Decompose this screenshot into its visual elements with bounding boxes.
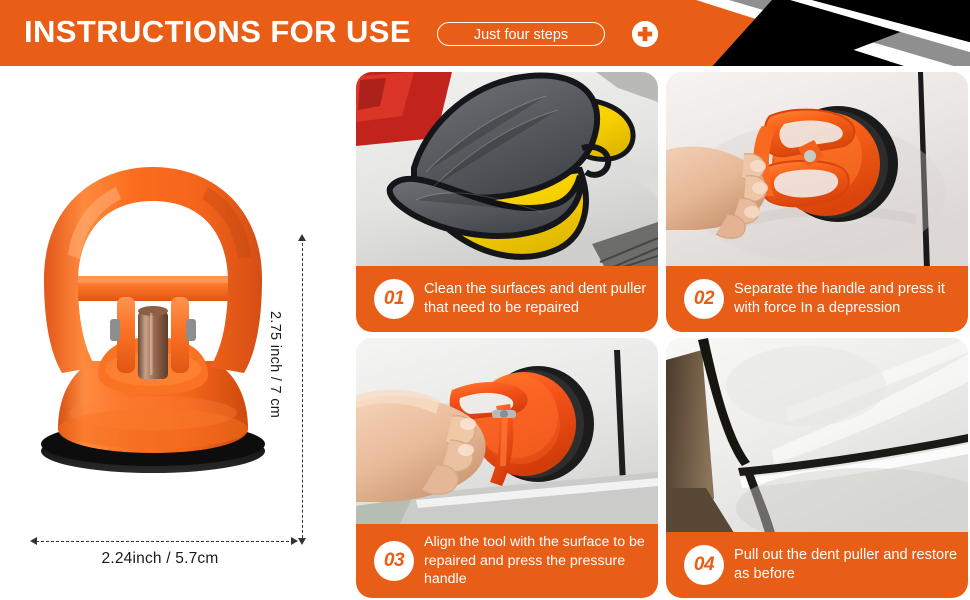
plus-icon bbox=[632, 21, 658, 47]
page-title: INSTRUCTIONS FOR USE bbox=[24, 12, 411, 52]
step-panel-01: 01 Clean the surfaces and dent puller th… bbox=[356, 72, 658, 332]
height-dimension-label: 2.75 inch / 7 cm bbox=[267, 311, 283, 471]
step-photo-02 bbox=[666, 72, 968, 270]
step-number-03: 03 bbox=[374, 541, 414, 581]
step-caption-01: 01 Clean the surfaces and dent puller th… bbox=[356, 266, 658, 332]
step-text-01: Clean the surfaces and dent puller that … bbox=[424, 280, 652, 318]
step-number-02: 02 bbox=[684, 279, 724, 319]
step-caption-02: 02 Separate the handle and press it with… bbox=[666, 266, 968, 332]
step-text-03: Align the tool with the surface to be re… bbox=[424, 533, 652, 589]
step-number-04: 04 bbox=[684, 545, 724, 585]
step-panel-02: 02 Separate the handle and press it with… bbox=[666, 72, 968, 332]
step-photo-01 bbox=[356, 72, 658, 270]
height-arrow-top-icon bbox=[298, 234, 306, 241]
height-arrow-bottom-icon bbox=[298, 538, 306, 545]
step-panel-03: 03 Align the tool with the surface to be… bbox=[356, 338, 658, 598]
step-number-01: 01 bbox=[374, 279, 414, 319]
instructions-for-use-page: INSTRUCTIONS FOR USE Just four steps bbox=[0, 0, 970, 600]
header-banner: INSTRUCTIONS FOR USE Just four steps bbox=[0, 0, 970, 66]
step-caption-03: 03 Align the tool with the surface to be… bbox=[356, 524, 658, 598]
height-dimension-line bbox=[302, 238, 303, 543]
step-panel-04: 04 Pull out the dent puller and restore … bbox=[666, 338, 968, 598]
width-dimension-label: 2.24inch / 5.7cm bbox=[0, 550, 320, 568]
steps-badge: Just four steps bbox=[437, 22, 605, 46]
step-photo-04 bbox=[666, 338, 968, 536]
step-photo-03 bbox=[356, 338, 658, 528]
step-caption-04: 04 Pull out the dent puller and restore … bbox=[666, 532, 968, 598]
step-text-02: Separate the handle and press it with fo… bbox=[734, 280, 962, 318]
width-arrow-left-icon bbox=[30, 537, 37, 545]
width-arrow-right-icon bbox=[291, 537, 298, 545]
step-text-04: Pull out the dent puller and restore as … bbox=[734, 546, 962, 584]
product-photo bbox=[22, 161, 284, 476]
width-dimension-line bbox=[36, 541, 294, 542]
product-image-panel: 2.75 inch / 7 cm 2.24inch / 5.7cm bbox=[0, 66, 352, 600]
